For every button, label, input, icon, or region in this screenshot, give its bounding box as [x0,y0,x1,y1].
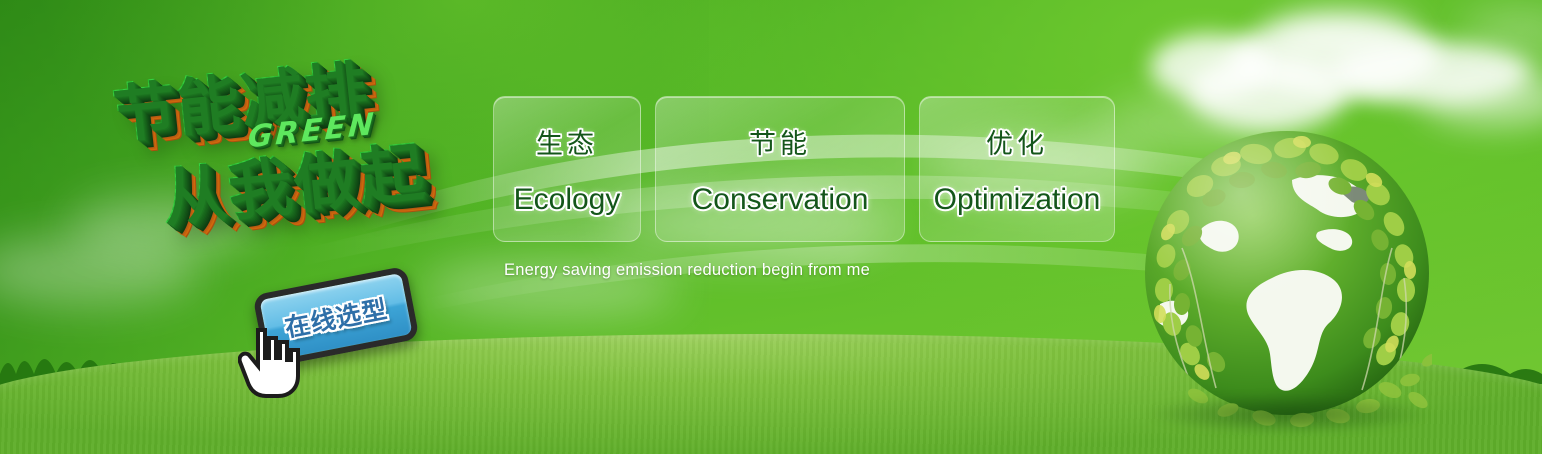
feature-card-list: 生态 Ecology 节能 Conservation 优化 Optimizati… [493,96,1115,242]
banner-tagline: Energy saving emission reduction begin f… [504,261,870,280]
promo-banner: 节能减排 GREEN 从我做起 在线选型 生态 Ecology 节能 Conse… [0,0,1542,454]
feature-card-optimization-en: Optimization [934,183,1101,217]
globe-ground-shadow [1148,394,1428,434]
feature-card-ecology-en: Ecology [514,183,621,217]
feature-card-optimization-cn: 优化 [986,122,1048,161]
feature-card-conservation-cn: 节能 [749,122,811,161]
leafy-earth-globe-icon [1142,128,1432,428]
feature-card-ecology[interactable]: 生态 Ecology [493,96,641,242]
feature-card-optimization[interactable]: 优化 Optimization [919,96,1115,242]
feature-card-ecology-cn: 生态 [536,122,598,161]
feature-card-conservation[interactable]: 节能 Conservation [655,96,905,242]
feature-card-conservation-en: Conservation [692,183,869,217]
headline-3d-artwork: 节能减排 GREEN 从我做起 [89,19,491,289]
pointer-hand-icon [238,322,312,400]
